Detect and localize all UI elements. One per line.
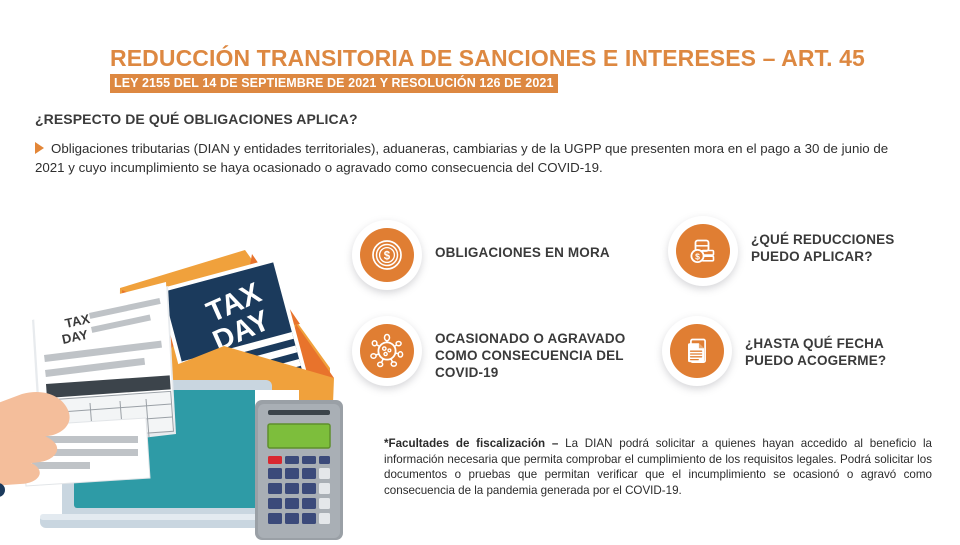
- money-stack-icon: $: [687, 235, 719, 267]
- badge-label: ¿QUÉ REDUCCIONES PUEDO APLICAR?: [751, 216, 894, 265]
- triangle-right-icon: [35, 142, 44, 154]
- calculator-slot: [268, 410, 330, 415]
- badge-icon-wrap: [662, 316, 732, 386]
- badge-icon-wrap: [352, 316, 422, 386]
- svg-text:$: $: [695, 252, 700, 262]
- intro-paragraph: Obligaciones tributarias (DIAN y entidad…: [35, 139, 910, 177]
- calculator-display: [268, 424, 330, 448]
- intro-paragraph-text: Obligaciones tributarias (DIAN y entidad…: [35, 141, 888, 175]
- badge-icon-wrap: $: [668, 216, 738, 286]
- section-heading: ¿RESPECTO DE QUÉ OBLIGACIONES APLICA?: [35, 111, 358, 127]
- calculator: [255, 390, 343, 540]
- badge-que-reducciones[interactable]: $ ¿QUÉ REDUCCIONES PUEDO APLICAR?: [668, 216, 894, 286]
- svg-text:$: $: [384, 251, 391, 263]
- badge-circle: [360, 324, 414, 378]
- badge-label: ¿HASTA QUÉ FECHA PUEDO ACOGERME?: [745, 316, 886, 369]
- document-icon: [681, 335, 713, 367]
- footnote-lead: *Facultades de fiscalización –: [384, 437, 565, 450]
- illustration-svg: TAX DAY TAX DAY: [0, 228, 360, 540]
- badge-circle: $: [360, 228, 414, 282]
- badge-obligaciones-en-mora[interactable]: $ OBLIGACIONES EN MORA: [352, 220, 610, 290]
- virus-icon: [369, 333, 405, 369]
- badge-hasta-que-fecha[interactable]: ¿HASTA QUÉ FECHA PUEDO ACOGERME?: [662, 316, 886, 386]
- page-title: REDUCCIÓN TRANSITORIA DE SANCIONES E INT…: [110, 45, 865, 72]
- coin-dollar-icon: $: [370, 238, 404, 272]
- badge-icon-wrap: $: [352, 220, 422, 290]
- badge-label: OBLIGACIONES EN MORA: [435, 220, 610, 261]
- page-subtitle-banner: LEY 2155 DEL 14 DE SEPTIEMBRE DE 2021 Y …: [110, 74, 558, 93]
- badge-ocasionado-agravado-covid[interactable]: OCASIONADO O AGRAVADO COMO CONSECUENCIA …: [352, 316, 625, 386]
- badge-circle: [670, 324, 724, 378]
- badge-label: OCASIONADO O AGRAVADO COMO CONSECUENCIA …: [435, 316, 625, 381]
- tax-day-desk-illustration: TAX DAY TAX DAY: [0, 228, 360, 540]
- footnote: *Facultades de fiscalización – La DIAN p…: [384, 436, 932, 498]
- badge-circle: $: [676, 224, 730, 278]
